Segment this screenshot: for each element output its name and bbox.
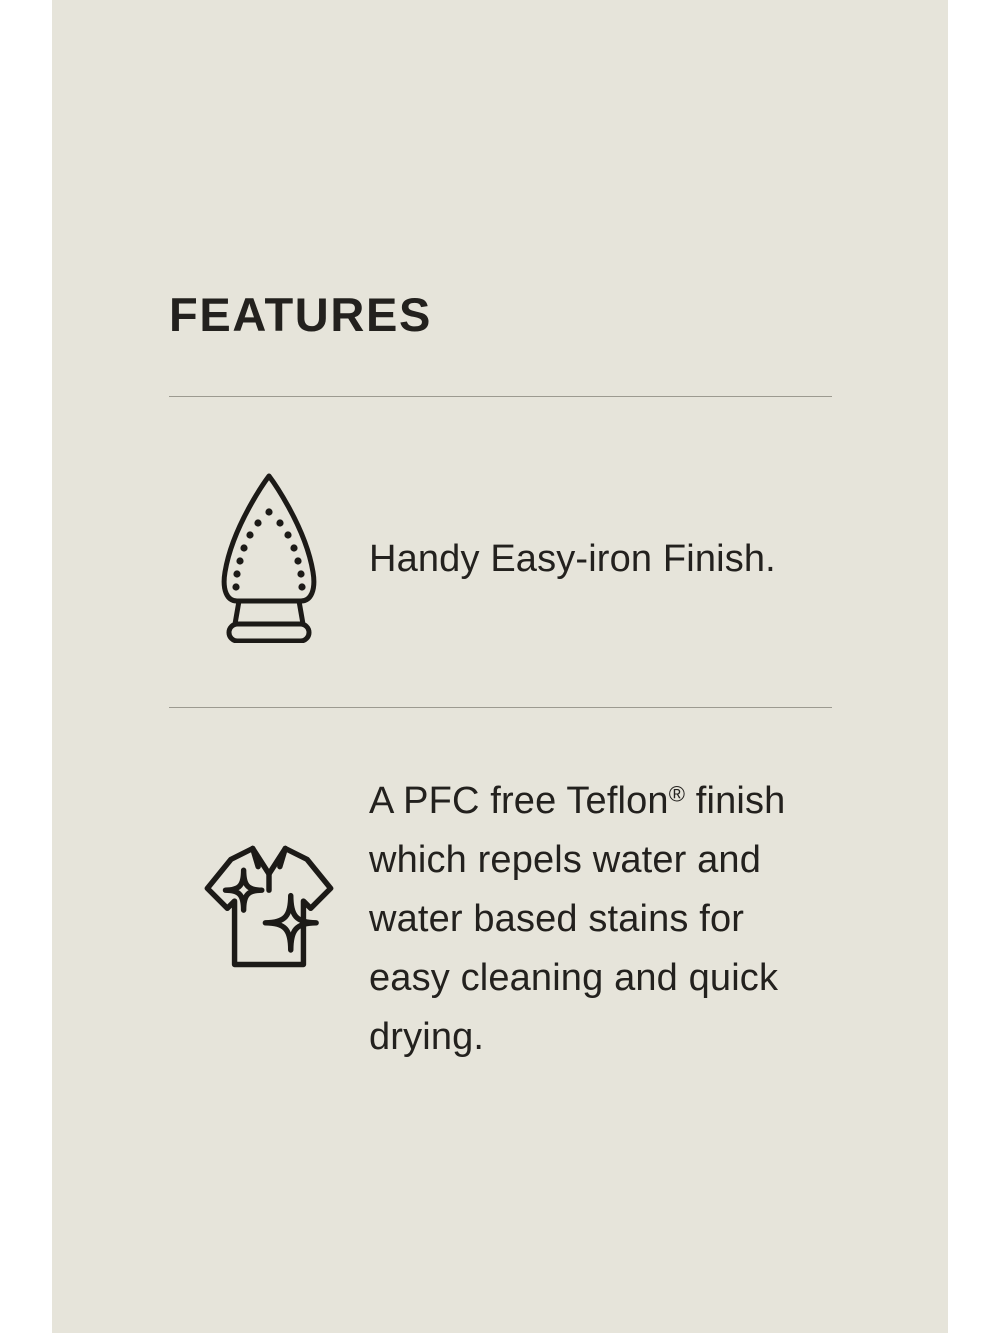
clothes-iron-icon — [169, 460, 369, 643]
teflon-text-before: A PFC free Teflon — [369, 780, 669, 822]
feature-item-easy-iron: Handy Easy-iron Finish. — [169, 460, 832, 643]
feature-item-teflon-finish: A PFC free Teflon® finish which repels w… — [169, 772, 832, 1067]
feature-text-teflon-finish: A PFC free Teflon® finish which repels w… — [369, 772, 832, 1067]
sparkling-shirt-icon — [169, 772, 369, 979]
divider-top — [169, 396, 832, 397]
registered-trademark-mark: ® — [669, 782, 685, 807]
divider-middle — [169, 707, 832, 708]
content-column: FEATURES — [169, 0, 832, 1333]
page-title: FEATURES — [169, 291, 432, 338]
features-panel-page: FEATURES — [0, 0, 1000, 1333]
beige-content-panel: FEATURES — [52, 0, 948, 1333]
feature-text-easy-iron: Handy Easy-iron Finish. — [369, 460, 832, 589]
